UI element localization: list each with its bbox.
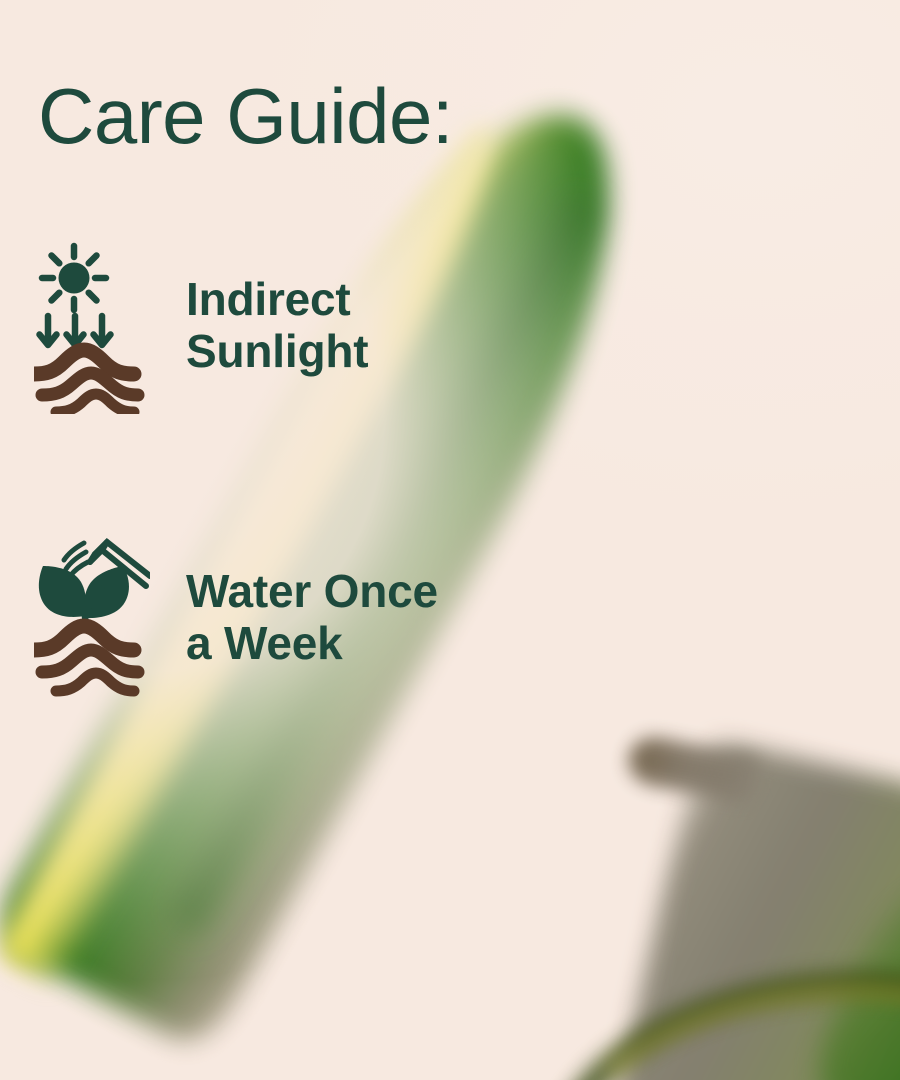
care-guide-content: Care Guide: (0, 0, 900, 1080)
care-item-indirect-sunlight: Indirect Sunlight (34, 238, 368, 414)
care-item-label-indirect-sunlight: Indirect Sunlight (186, 274, 368, 377)
watering-sprout-icon (34, 530, 150, 706)
sun-disc-icon (59, 263, 90, 294)
sun-over-soil-icon (34, 238, 150, 414)
soil-waves-icon (34, 350, 138, 412)
page-title: Care Guide: (38, 77, 453, 155)
care-item-water-once-a-week: Water Once a Week (34, 530, 438, 706)
sunlight-arrows-icon (40, 316, 111, 345)
care-item-label-water-once-a-week: Water Once a Week (186, 566, 438, 669)
soil-waves-icon (34, 626, 138, 691)
care-guide-card: Care Guide: (0, 0, 900, 1080)
